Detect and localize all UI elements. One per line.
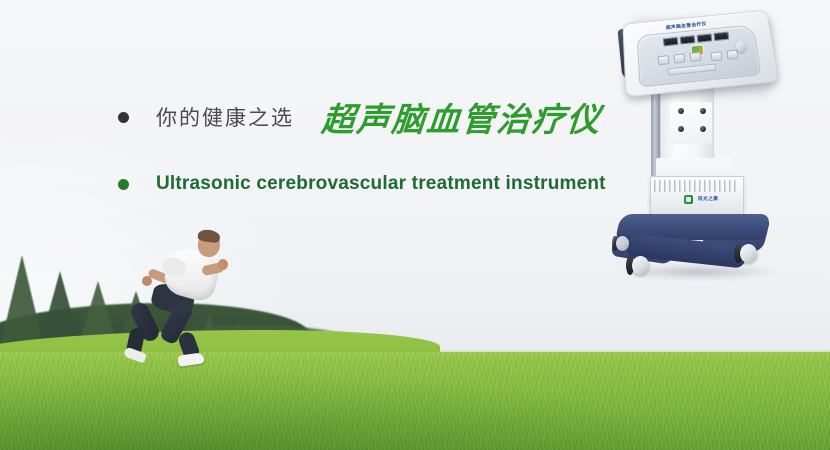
- caster-hub: [740, 244, 757, 263]
- runner-back-fist: [142, 276, 152, 286]
- runner-front-fist: [218, 259, 228, 270]
- green-cross-logo-icon: [684, 195, 693, 204]
- display-segment: [680, 35, 696, 45]
- tagline-chinese: 你的健康之选: [156, 102, 294, 132]
- device-brand-label: 阳光之康: [698, 196, 718, 202]
- device-port: [678, 126, 684, 132]
- device-basket-vents: [654, 180, 738, 192]
- product-name-english: Ultrasonic cerebrovascular treatment ins…: [156, 173, 606, 195]
- headline-line-english: Ultrasonic cerebrovascular treatment ins…: [118, 173, 606, 195]
- product-hero-banner: 你的健康之选 超声脑血管治疗仪 Ultrasonic cerebrovascul…: [0, 0, 830, 450]
- running-man-figure: [128, 228, 256, 360]
- product-name-chinese: 超声脑血管治疗仪: [320, 93, 604, 141]
- headline-line-chinese: 你的健康之选 超声脑血管治疗仪: [118, 93, 602, 141]
- medical-device-trolley: 阳光之康 超声脑血管治疗仪: [608, 8, 808, 308]
- device-port: [700, 126, 706, 132]
- bullet-dot-green-icon: [118, 179, 129, 190]
- device-port: [700, 108, 706, 114]
- display-segment: [663, 37, 679, 47]
- panel-button[interactable]: [727, 50, 739, 60]
- panel-button[interactable]: [711, 51, 723, 61]
- panel-button[interactable]: [674, 53, 686, 63]
- panel-button[interactable]: [658, 55, 670, 65]
- caster-hub: [632, 256, 649, 275]
- device-port: [678, 108, 684, 114]
- grass-shading: [0, 352, 830, 450]
- display-segment: [713, 32, 729, 42]
- display-segment: [697, 33, 713, 43]
- panel-button[interactable]: [689, 52, 701, 62]
- bullet-dot-dark-icon: [118, 112, 129, 123]
- device-port-plate: [670, 102, 712, 144]
- caster-hub: [616, 236, 629, 251]
